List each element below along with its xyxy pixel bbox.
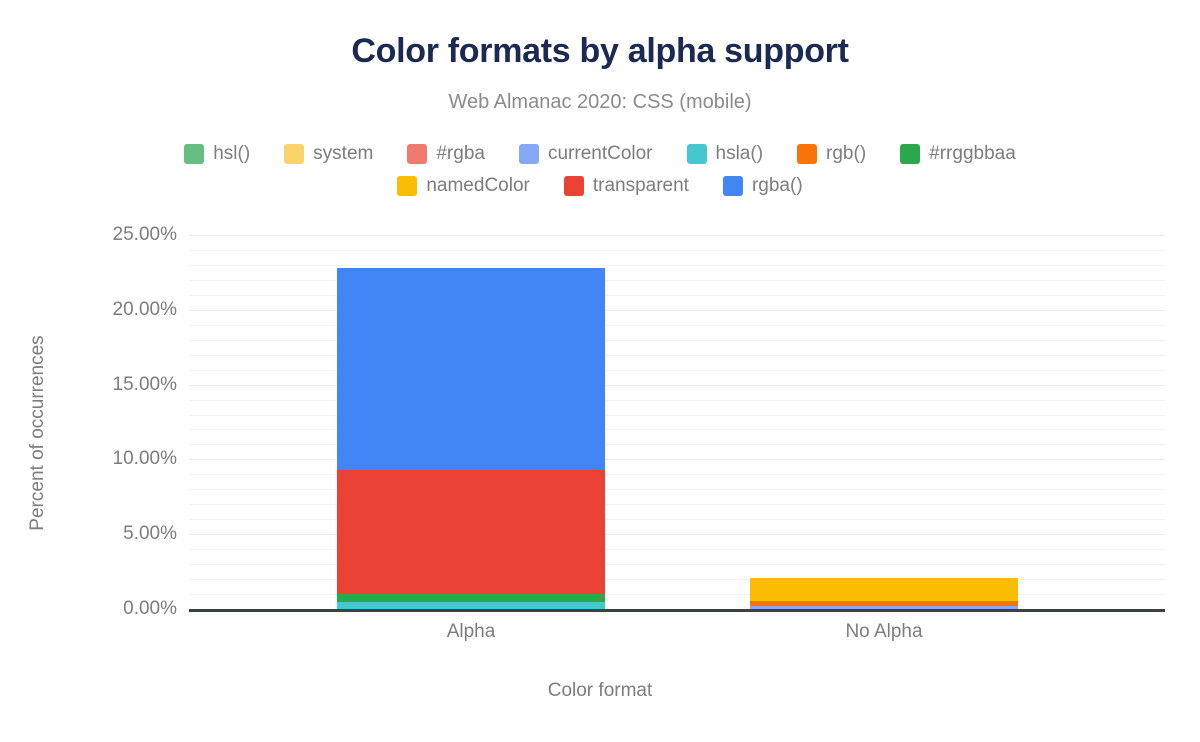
gridline-major xyxy=(189,310,1165,311)
y-axis-tick-label: 0.00% xyxy=(57,598,177,620)
y-axis-tick-label: 25.00% xyxy=(57,224,177,246)
x-axis-label-alpha: Alpha xyxy=(321,621,621,643)
gridline-minor xyxy=(189,429,1165,430)
gridline-minor xyxy=(189,564,1165,565)
x-axis-label-no-alpha: No Alpha xyxy=(734,621,1034,643)
gridline-minor xyxy=(189,340,1165,341)
bar-alpha[interactable] xyxy=(337,268,605,609)
gridline-minor xyxy=(189,370,1165,371)
bar-segment-transparent[interactable] xyxy=(337,470,605,594)
plot-area xyxy=(189,235,1165,609)
bar-segment-hsla[interactable] xyxy=(337,602,605,609)
bar-segment--rrggbbaa[interactable] xyxy=(337,594,605,602)
gridline-minor xyxy=(189,489,1165,490)
x-axis-title: Color format xyxy=(0,680,1200,702)
gridline-minor xyxy=(189,295,1165,296)
x-axis-line xyxy=(189,609,1165,612)
gridline-minor xyxy=(189,504,1165,505)
gridline-minor xyxy=(189,400,1165,401)
gridline-major xyxy=(189,534,1165,535)
y-axis-tick-label: 10.00% xyxy=(57,448,177,470)
gridline-minor xyxy=(189,519,1165,520)
y-axis-tick-label: 20.00% xyxy=(57,299,177,321)
gridline-minor xyxy=(189,474,1165,475)
bar-segment-rgba[interactable] xyxy=(337,268,605,470)
y-axis-tick-label: 5.00% xyxy=(57,523,177,545)
gridline-minor xyxy=(189,415,1165,416)
plot-wrapper: Percent of occurrences 0.00%5.00%10.00%1… xyxy=(0,0,1200,742)
y-axis-tick-label: 15.00% xyxy=(57,374,177,396)
gridline-minor xyxy=(189,325,1165,326)
gridline-major xyxy=(189,235,1165,236)
gridline-minor xyxy=(189,250,1165,251)
gridline-minor xyxy=(189,444,1165,445)
bar-segment-rgb[interactable] xyxy=(750,601,1018,606)
gridline-minor xyxy=(189,280,1165,281)
gridline-major xyxy=(189,459,1165,460)
gridline-minor xyxy=(189,355,1165,356)
bar-no-alpha[interactable] xyxy=(750,578,1018,609)
gridline-minor xyxy=(189,594,1165,595)
y-axis-ticks: 0.00%5.00%10.00%15.00%20.00%25.00% xyxy=(45,0,177,742)
bar-segment-namedcolor[interactable] xyxy=(750,578,1018,601)
gridline-major xyxy=(189,385,1165,386)
gridline-minor xyxy=(189,579,1165,580)
gridline-minor xyxy=(189,549,1165,550)
gridline-minor xyxy=(189,265,1165,266)
